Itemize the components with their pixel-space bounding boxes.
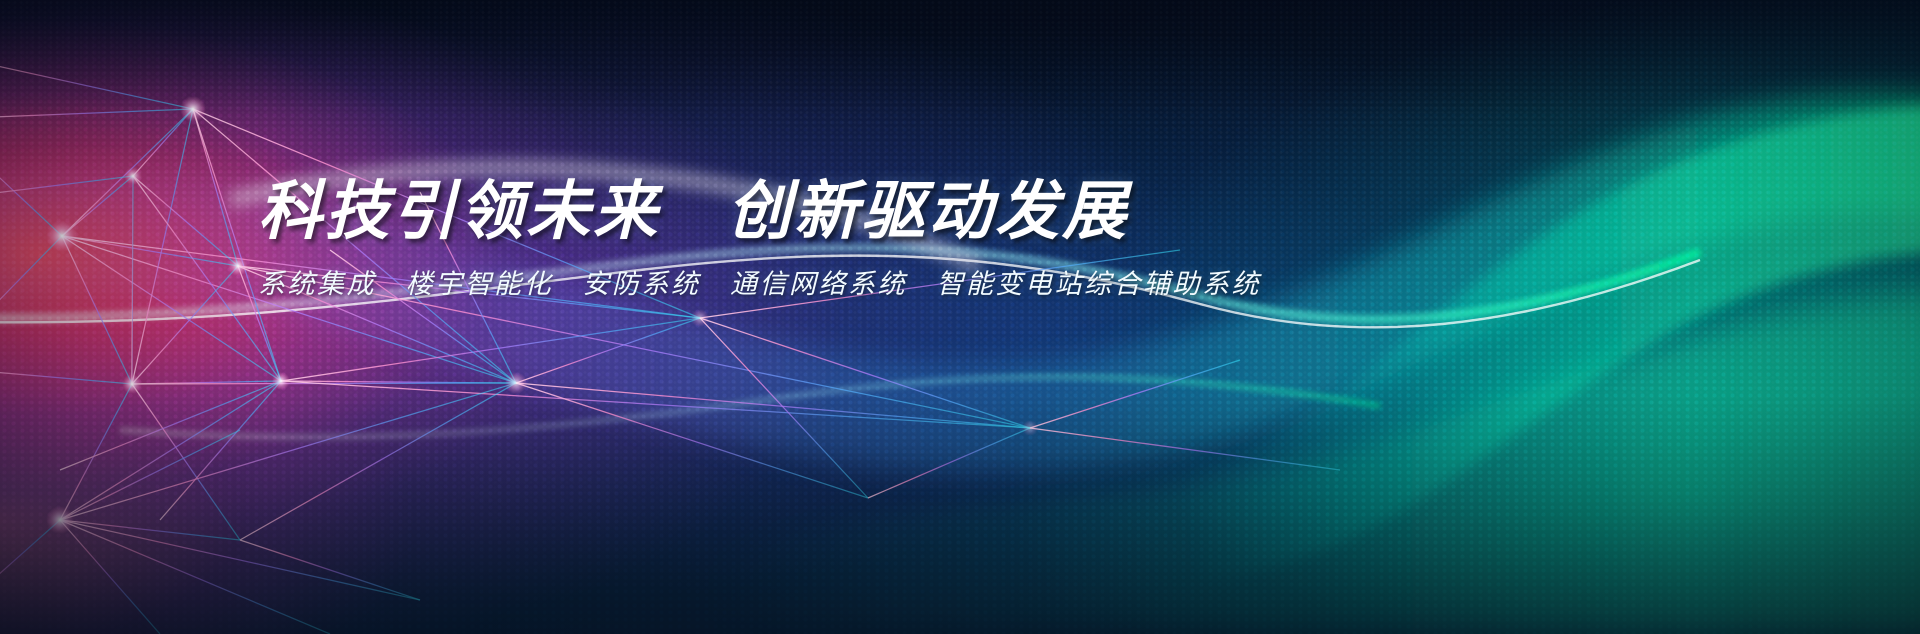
halftone-dot-texture-fine xyxy=(0,0,1920,634)
teal-glow-right xyxy=(0,0,1920,634)
halftone-dot-texture xyxy=(0,0,1920,634)
red-glow-left xyxy=(0,0,1920,634)
background-base-gradient xyxy=(0,0,1920,634)
polygonal-network-lines-graphic xyxy=(0,0,1920,634)
blue-glow-center xyxy=(0,0,1920,634)
vignette-overlay xyxy=(0,0,1920,634)
banner-text-block: 科技引领未来 创新驱动发展 系统集成 楼宇智能化 安防系统 通信网络系统 智能变… xyxy=(258,178,1378,301)
tech-banner: 科技引领未来 创新驱动发展 系统集成 楼宇智能化 安防系统 通信网络系统 智能变… xyxy=(0,0,1920,634)
violet-glow-mid xyxy=(0,0,1920,634)
halftone-dot-wave-graphic xyxy=(0,0,1920,634)
network-node-glows xyxy=(46,96,1038,534)
banner-subtitle: 系统集成 楼宇智能化 安防系统 通信网络系统 智能变电站综合辅助系统 xyxy=(258,262,1378,301)
banner-headline: 科技引领未来 创新驱动发展 xyxy=(258,178,1378,245)
